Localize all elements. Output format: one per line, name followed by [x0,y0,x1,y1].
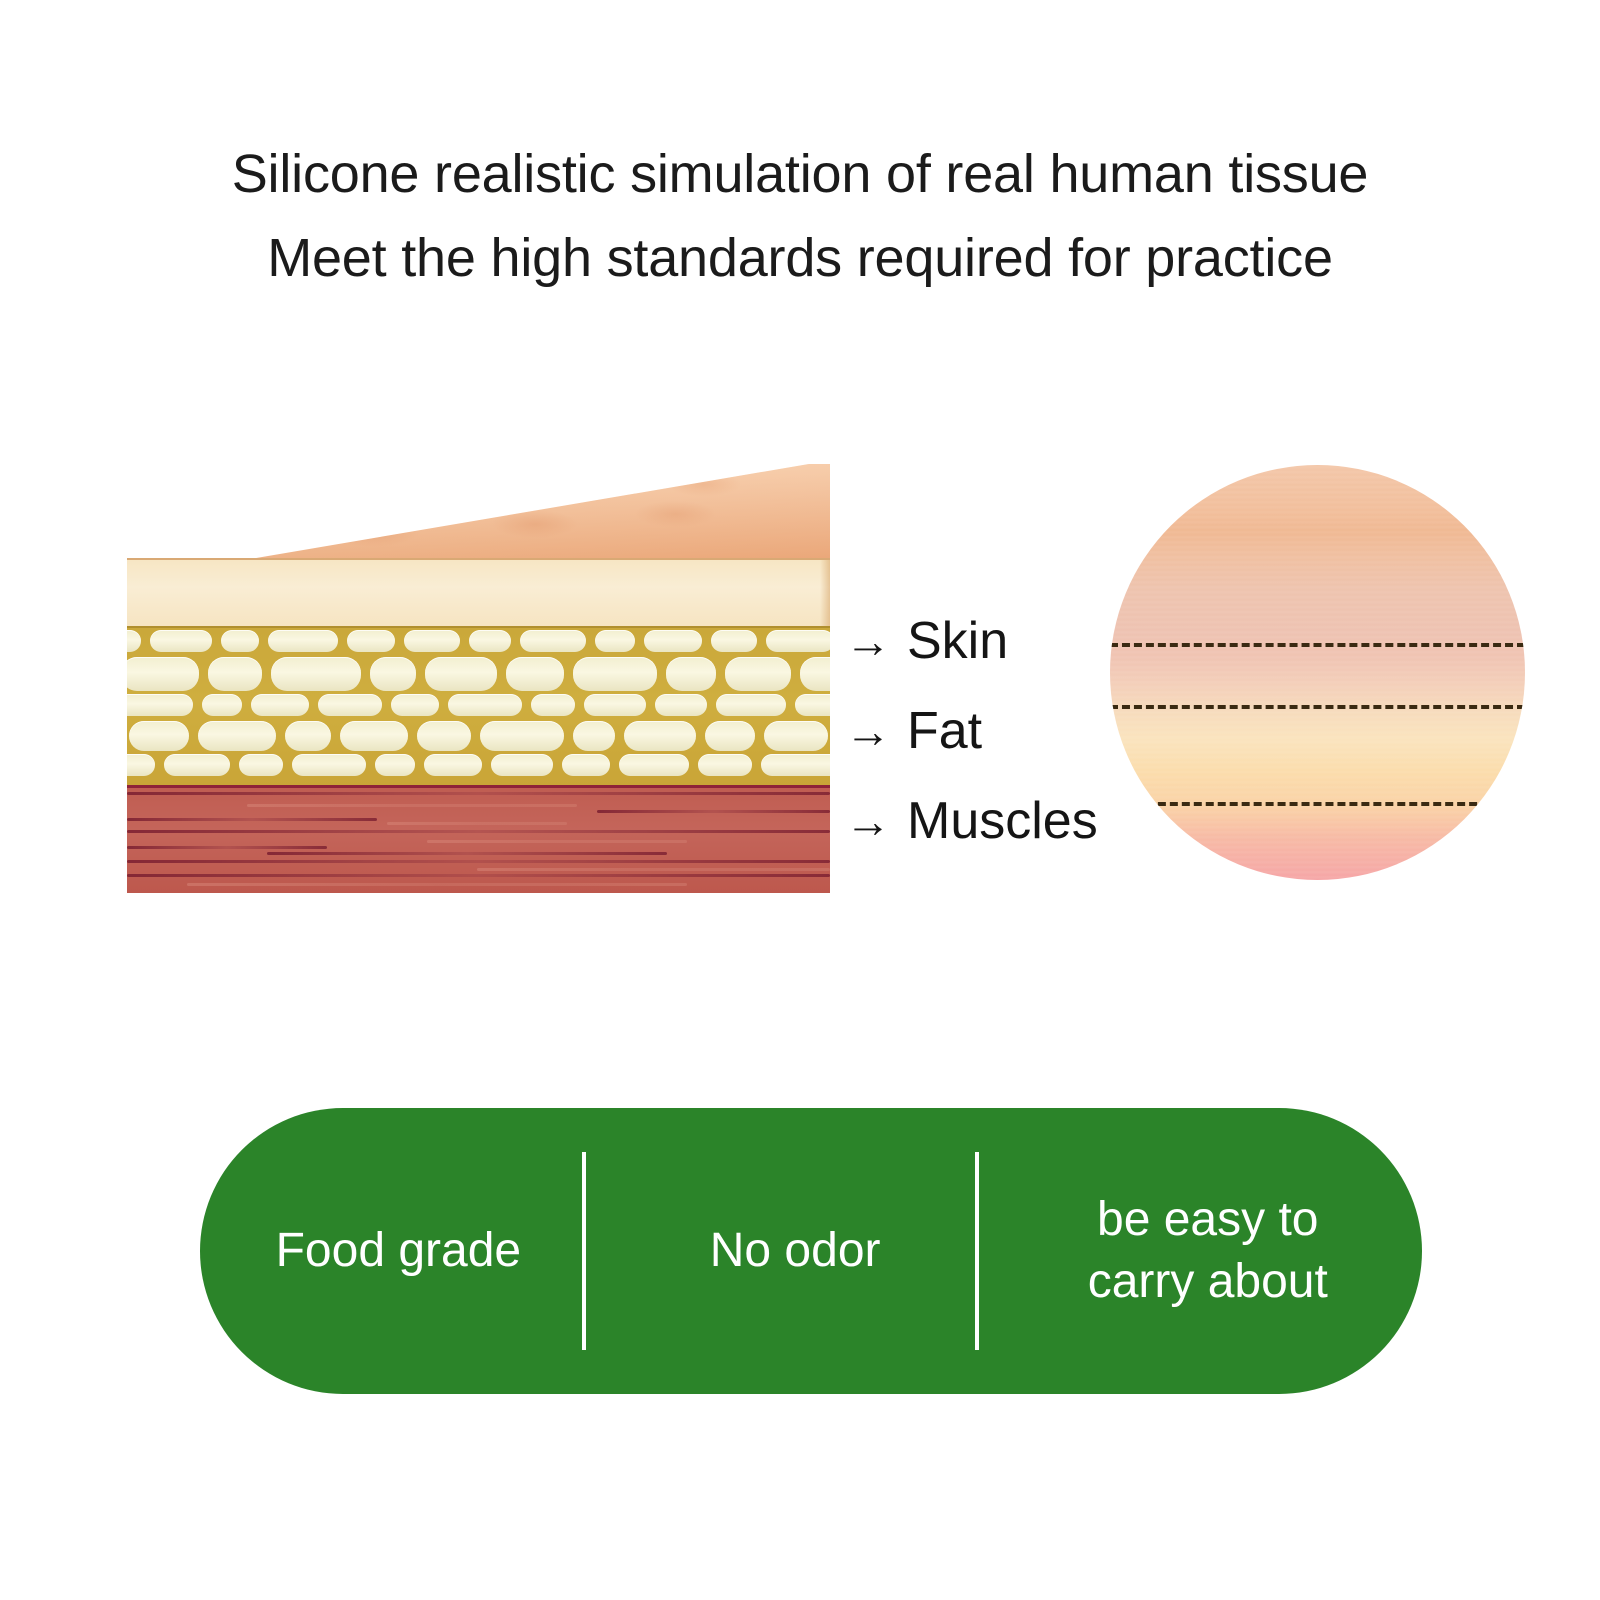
layer-callout-list: → Skin → Fat → Muscles [845,596,1135,866]
fat-cell [480,721,564,751]
fat-cell [340,721,408,751]
fat-cell [520,630,586,652]
fat-cell-row [127,657,830,691]
fat-cell [127,754,155,776]
fat-cell [127,657,199,691]
fat-cell [424,754,482,776]
fat-cell-row [127,694,830,716]
muscle-striation [127,792,830,795]
fat-cell [271,657,361,691]
arrow-right-icon: → [845,618,891,664]
skin-surface-face [127,462,830,562]
feature-label-easy-carry-line-1: be easy to [1088,1189,1328,1251]
muscle-striation [127,846,327,849]
muscle-striation [127,860,830,863]
fat-cell [292,754,366,776]
muscle-striation [127,830,830,833]
fat-cell [764,721,828,751]
fat-cell [711,630,757,652]
fat-cell [584,694,646,716]
fat-cell [619,754,689,776]
infographic-page: Silicone realistic simulation of real hu… [0,0,1600,1600]
muscle-striation [387,822,567,825]
fat-cell [417,721,471,751]
fat-cell [208,657,262,691]
fat-cell-row [129,721,830,751]
muscle-striation [127,874,830,877]
fat-cell [761,754,830,776]
tissue-block-diagram [127,462,830,890]
arrow-right-icon: → [845,798,891,844]
feature-label-no-odor: No odor [710,1220,881,1282]
fat-cell [725,657,791,691]
muscle-striation [127,818,377,821]
fat-cell [644,630,702,652]
fat-cell-row [127,630,830,652]
fat-cell [391,694,439,716]
fat-cell [800,657,830,691]
feature-label-easy-carry-line-2: carry about [1088,1251,1328,1313]
fat-cell [164,754,230,776]
tissue-closeup-circle [1110,465,1525,880]
fat-cell [595,630,635,652]
fat-cell [705,721,755,751]
callout-label-skin: Skin [907,615,1008,667]
banner-divider-2 [975,1152,979,1350]
fat-cell [573,721,615,751]
fat-cell-row [127,754,830,776]
fat-cell [318,694,382,716]
fat-cell [795,694,830,716]
fat-cell [562,754,610,776]
page-title: Silicone realistic simulation of real hu… [0,132,1600,300]
headline-line-2: Meet the high standards required for pra… [0,216,1600,300]
closeup-dashed-line-2 [1110,705,1525,709]
muscle-striation [427,840,687,843]
fat-layer [127,626,830,787]
fat-cell [491,754,553,776]
callout-muscles: → Muscles [845,776,1135,866]
fat-cell [375,754,415,776]
fat-cell [666,657,716,691]
feature-food-grade: Food grade [200,1108,597,1394]
callout-label-muscles: Muscles [907,795,1098,847]
fat-cell [370,657,416,691]
fat-cell [285,721,331,751]
fat-cell [251,694,309,716]
fat-cell [127,694,193,716]
fat-cell [573,657,657,691]
callout-skin: → Skin [845,596,1135,686]
callout-fat: → Fat [845,686,1135,776]
fat-cell [425,657,497,691]
fat-cell [127,630,141,652]
muscle-striation [187,883,687,886]
fat-cell [150,630,212,652]
feature-banner: Food grade No odor be easy to carry abou… [200,1108,1422,1394]
fat-cell [198,721,276,751]
fat-cell [624,721,696,751]
fat-cell [716,694,786,716]
fat-cell [655,694,707,716]
feature-easy-carry: be easy to carry about [994,1108,1423,1394]
fat-cell [239,754,283,776]
fat-cell [347,630,395,652]
feature-label-food-grade: Food grade [276,1220,522,1282]
banner-divider-1 [582,1152,586,1350]
muscle-striation [597,810,830,813]
fat-cell [129,721,189,751]
muscle-striation [477,868,830,871]
muscle-striation [247,804,577,807]
skin-layer [127,558,830,628]
fat-cell [698,754,752,776]
fat-cell [506,657,564,691]
muscle-layer [127,785,830,893]
fat-cell [404,630,460,652]
closeup-dashed-line-1 [1110,643,1525,647]
fat-cell [268,630,338,652]
fat-cell [448,694,522,716]
closeup-dashed-line-3 [1110,802,1525,806]
headline-line-1: Silicone realistic simulation of real hu… [0,132,1600,216]
fat-cell [202,694,242,716]
fat-cell [531,694,575,716]
fat-cell [766,630,830,652]
fat-cell [221,630,259,652]
muscle-striation [267,852,667,855]
arrow-right-icon: → [845,708,891,754]
fat-cell [469,630,511,652]
feature-label-easy-carry: be easy to carry about [1088,1189,1328,1313]
feature-no-odor: No odor [597,1108,994,1394]
callout-label-fat: Fat [907,705,982,757]
